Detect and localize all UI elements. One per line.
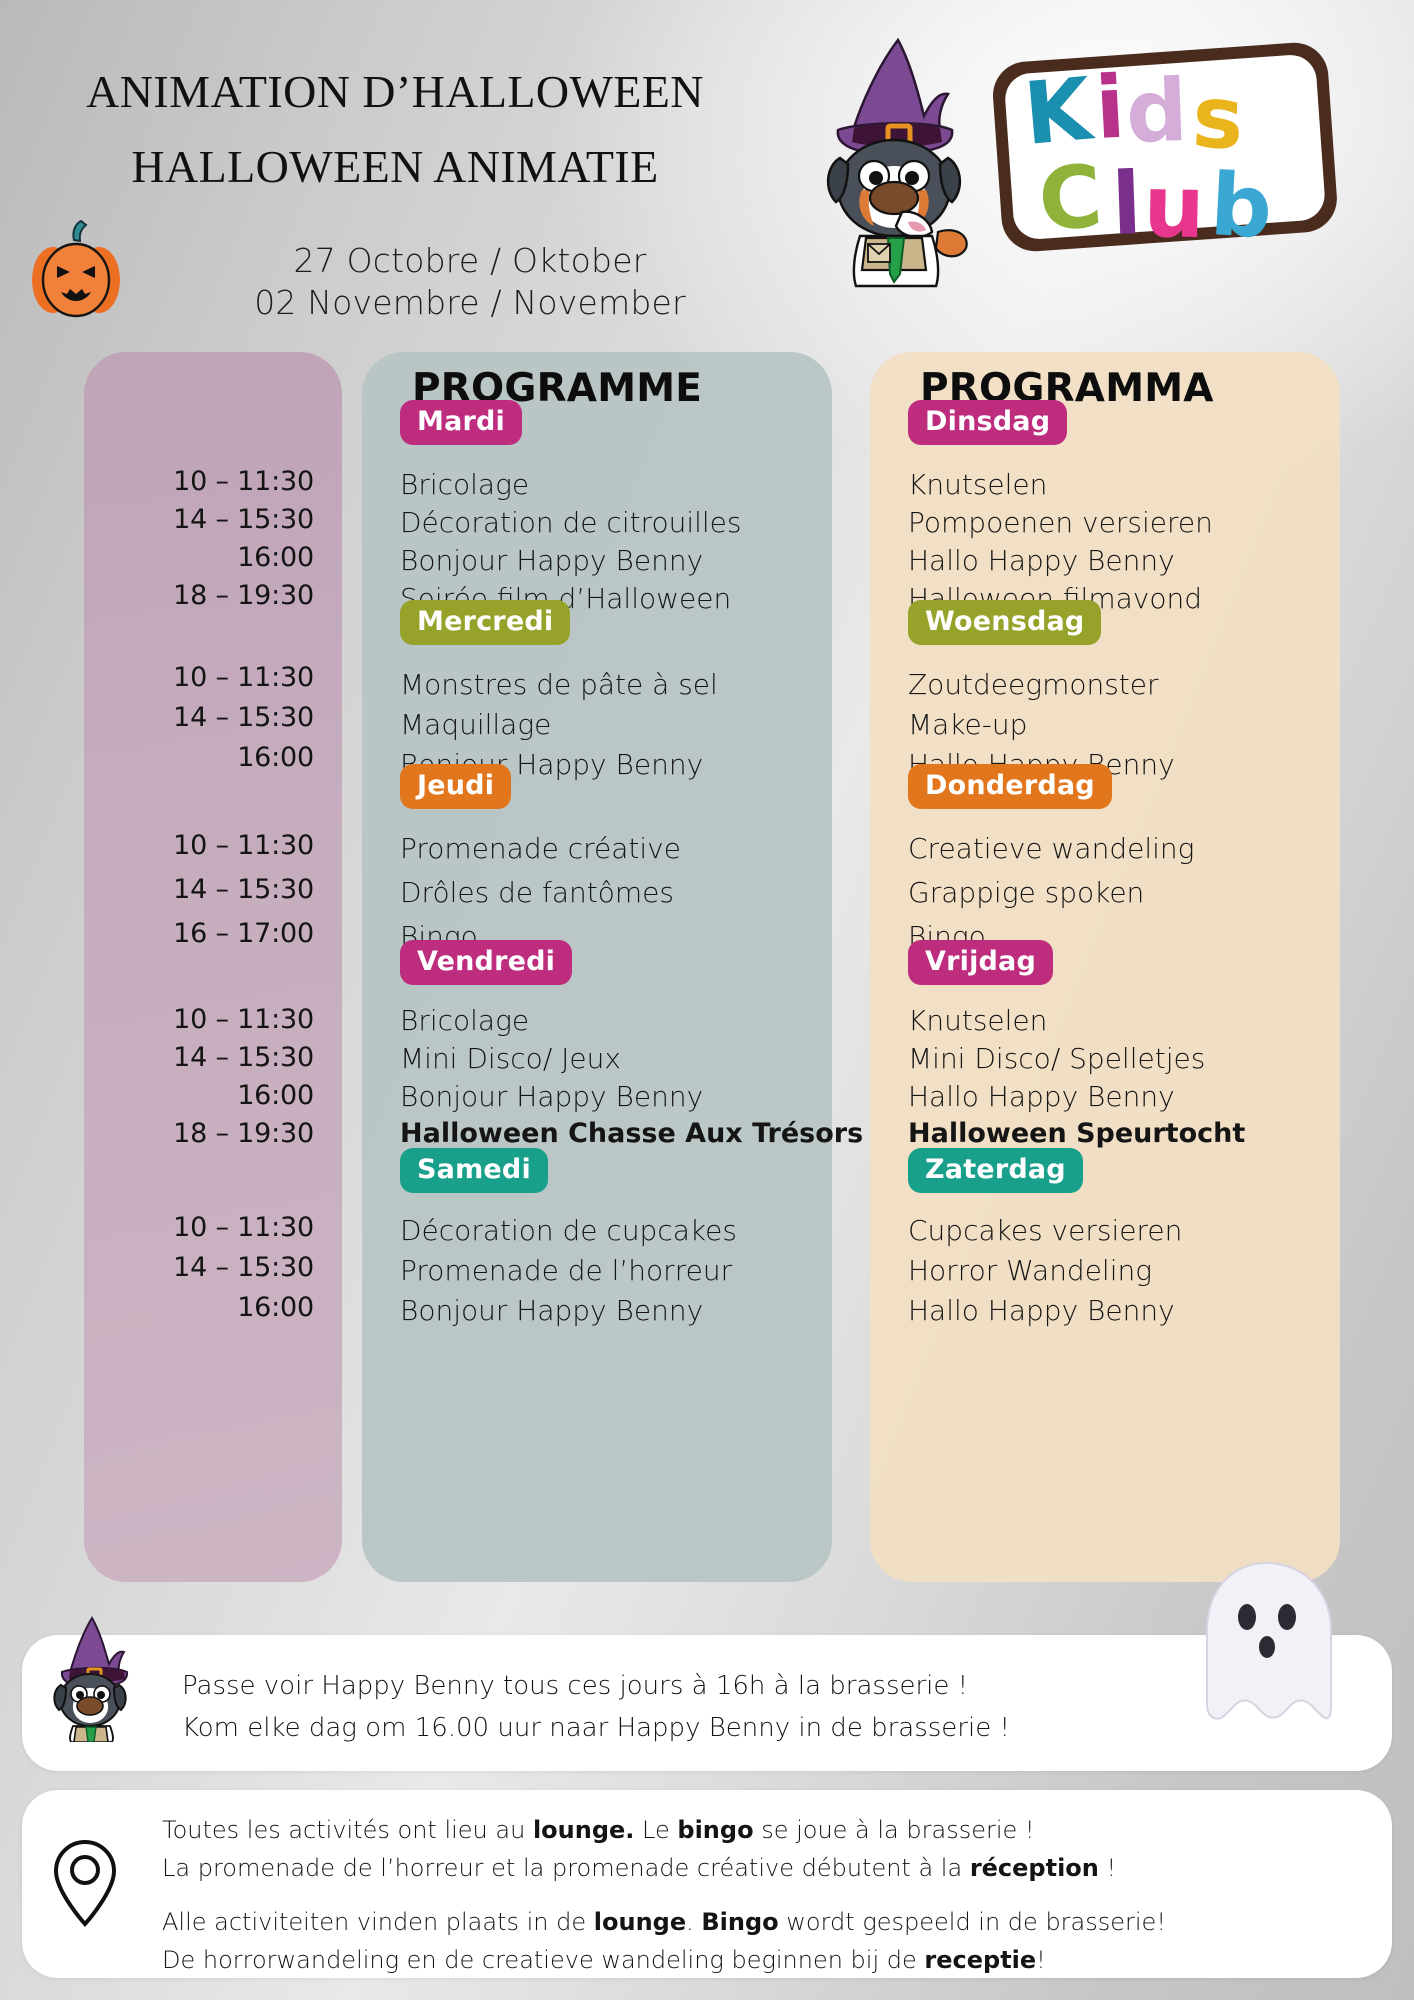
time-row: 18 – 19:30 <box>84 1118 314 1156</box>
activity-row: Bricolage <box>400 1004 830 1042</box>
activity-row: Décoration de citrouilles <box>400 506 830 544</box>
activity-row: Pompoenen versieren <box>908 506 1348 544</box>
activity-row: Creatieve wandeling <box>908 832 1348 876</box>
mini-dog-witch-icon <box>38 1612 142 1742</box>
time-row: 10 – 11:30 <box>84 466 314 504</box>
svg-text:C: C <box>1035 147 1105 251</box>
time-row: 16:00 <box>84 1292 314 1332</box>
activity-row: Knutselen <box>908 468 1348 506</box>
activity-row: Monstres de pâte à sel <box>400 668 830 708</box>
activity-row: Promenade créative <box>400 832 830 876</box>
day-chip-nl-thursday: Donderdag <box>908 764 1112 809</box>
info-nl2-c: ! <box>1036 1946 1046 1974</box>
activity-row: Mini Disco/ Jeux <box>400 1042 830 1080</box>
activity-row: Décoration de cupcakes <box>400 1214 830 1254</box>
times-column-tuesday: 10 – 11:3014 – 15:3016:0018 – 19:30 <box>84 466 314 618</box>
ghost-icon <box>1185 1555 1350 1740</box>
activity-row: Cupcakes versieren <box>908 1214 1348 1254</box>
svg-text:u: u <box>1143 157 1206 258</box>
activity-row: Drôles de fantômes <box>400 876 830 920</box>
info-french-line-2: La promenade de l’horreur et la promenad… <box>162 1850 1166 1888</box>
info-nl1-c: . <box>686 1908 701 1936</box>
date-line-1: 27 Octobre / Oktober <box>150 240 790 282</box>
time-row: 16 – 17:00 <box>84 918 314 962</box>
activities-fr-saturday: Décoration de cupcakesPromenade de l’hor… <box>400 1214 830 1334</box>
info-fr2-c: ! <box>1099 1854 1116 1882</box>
activity-row: Hallo Happy Benny <box>908 1294 1348 1334</box>
time-row: 10 – 11:30 <box>84 1212 314 1252</box>
time-row: 14 – 15:30 <box>84 874 314 918</box>
times-column-thursday: 10 – 11:3014 – 15:3016 – 17:00 <box>84 830 314 962</box>
day-chip-fr-wednesday: Mercredi <box>400 600 570 645</box>
day-chip-fr-friday: Vendredi <box>400 940 572 985</box>
dog-mascot-witch-icon <box>790 30 1000 290</box>
info-nl2-receptie: receptie <box>924 1946 1036 1974</box>
info-fr2-a: La promenade de l’horreur et la promenad… <box>162 1854 970 1882</box>
info-fr1-a: Toutes les activités ont lieu au <box>162 1816 533 1844</box>
info-nl1-e: wordt gespeeld in de brasserie! <box>779 1908 1166 1936</box>
kids-club-logo: K i d s C l u b <box>985 38 1345 258</box>
activity-row: Hallo Happy Benny <box>908 544 1348 582</box>
info-fr1-e: se joue à la brasserie ! <box>754 1816 1035 1844</box>
svg-text:d: d <box>1124 61 1189 163</box>
title-french: ANIMATION D’HALLOWEEN <box>0 62 790 123</box>
location-pin-icon <box>50 1838 120 1930</box>
time-row: 14 – 15:30 <box>84 702 314 742</box>
benny-note-dutch: Kom elke dag om 16.00 uur naar Happy Ben… <box>182 1707 1010 1749</box>
info-nl1-a: Alle activiteiten vinden plaats in de <box>162 1908 594 1936</box>
date-line-2: 02 Novembre / November <box>150 282 790 324</box>
pumpkin-icon <box>28 218 124 322</box>
activity-row: Promenade de l’horreur <box>400 1254 830 1294</box>
activities-nl-saturday: Cupcakes versierenHorror WandelingHallo … <box>908 1214 1348 1334</box>
time-row: 16:00 <box>84 1080 314 1118</box>
times-column-friday: 10 – 11:3014 – 15:3016:0018 – 19:30 <box>84 1004 314 1156</box>
info-dutch-line-1: Alle activiteiten vinden plaats in de lo… <box>162 1904 1166 1942</box>
info-nl2-a: De horrorwandeling en de creatieve wande… <box>162 1946 924 1974</box>
activity-row: Zoutdeegmonster <box>908 668 1348 708</box>
activity-row: Knutselen <box>908 1004 1348 1042</box>
date-block: 27 Octobre / Oktober 02 Novembre / Novem… <box>150 240 790 324</box>
day-chip-nl-friday: Vrijdag <box>908 940 1053 985</box>
day-chip-nl-wednesday: Woensdag <box>908 600 1101 645</box>
activity-row: Horror Wandeling <box>908 1254 1348 1294</box>
info-nl1-lounge: lounge <box>594 1908 686 1936</box>
day-sections: MardiDinsdag10 – 11:3014 – 15:3016:0018 … <box>0 352 1414 1622</box>
info-fr1-bingo: bingo <box>677 1816 753 1844</box>
svg-text:b: b <box>1208 155 1275 258</box>
activity-row: Bonjour Happy Benny <box>400 544 830 582</box>
time-row: 14 – 15:30 <box>84 1252 314 1292</box>
time-row: 10 – 11:30 <box>84 830 314 874</box>
info-fr1-lounge: lounge. <box>533 1816 634 1844</box>
activity-row: Make-up <box>908 708 1348 748</box>
day-chip-fr-tuesday: Mardi <box>400 400 522 445</box>
activity-row: Hallo Happy Benny <box>908 1080 1348 1118</box>
times-column-saturday: 10 – 11:3014 – 15:3016:00 <box>84 1212 314 1332</box>
day-chip-fr-saturday: Samedi <box>400 1148 548 1193</box>
time-row: 14 – 15:30 <box>84 504 314 542</box>
info-dutch-line-2: De horrorwandeling en de creatieve wande… <box>162 1942 1166 1980</box>
activity-row: Mini Disco/ Spelletjes <box>908 1042 1348 1080</box>
info-nl1-bingo: Bingo <box>701 1908 778 1936</box>
activity-row: Grappige spoken <box>908 876 1348 920</box>
title-block: ANIMATION D’HALLOWEEN HALLOWEEN ANIMATIE <box>0 62 790 197</box>
info-fr1-c: Le <box>634 1816 677 1844</box>
activities-fr-friday: BricolageMini Disco/ JeuxBonjour Happy B… <box>400 1004 830 1156</box>
activity-row: Bricolage <box>400 468 830 506</box>
info-fr2-reception: réception <box>970 1854 1099 1882</box>
benny-note-text: Passe voir Happy Benny tous ces jours à … <box>182 1665 1010 1749</box>
time-row: 16:00 <box>84 742 314 782</box>
day-chip-nl-tuesday: Dinsdag <box>908 400 1067 445</box>
poster-header: ANIMATION D’HALLOWEEN HALLOWEEN ANIMATIE… <box>0 0 1414 355</box>
time-row: 18 – 19:30 <box>84 580 314 618</box>
activity-row: Bonjour Happy Benny <box>400 1080 830 1118</box>
time-row: 10 – 11:30 <box>84 662 314 702</box>
activity-row: Maquillage <box>400 708 830 748</box>
info-french-line-1: Toutes les activités ont lieu au lounge.… <box>162 1812 1166 1850</box>
title-dutch: HALLOWEEN ANIMATIE <box>0 137 790 198</box>
svg-text:i: i <box>1093 58 1128 159</box>
time-row: 16:00 <box>84 542 314 580</box>
time-row: 10 – 11:30 <box>84 1004 314 1042</box>
benny-note-french: Passe voir Happy Benny tous ces jours à … <box>182 1665 1010 1707</box>
times-column-wednesday: 10 – 11:3014 – 15:3016:00 <box>84 662 314 782</box>
location-note-card: Toutes les activités ont lieu au lounge.… <box>22 1790 1392 1978</box>
activities-fr-tuesday: BricolageDécoration de citrouillesBonjou… <box>400 468 830 620</box>
activities-nl-friday: KnutselenMini Disco/ SpelletjesHallo Hap… <box>908 1004 1348 1156</box>
activity-row: Bonjour Happy Benny <box>400 1294 830 1334</box>
day-chip-fr-thursday: Jeudi <box>400 764 511 809</box>
location-note-text: Toutes les activités ont lieu au lounge.… <box>162 1812 1166 1980</box>
time-row: 14 – 15:30 <box>84 1042 314 1080</box>
svg-text:l: l <box>1110 154 1143 255</box>
svg-text:s: s <box>1190 67 1246 170</box>
program-grid: PROGRAMME PROGRAMMA MardiDinsdag10 – 11:… <box>0 352 1414 1622</box>
day-chip-nl-saturday: Zaterdag <box>908 1148 1083 1193</box>
activities-nl-tuesday: KnutselenPompoenen versierenHallo Happy … <box>908 468 1348 620</box>
